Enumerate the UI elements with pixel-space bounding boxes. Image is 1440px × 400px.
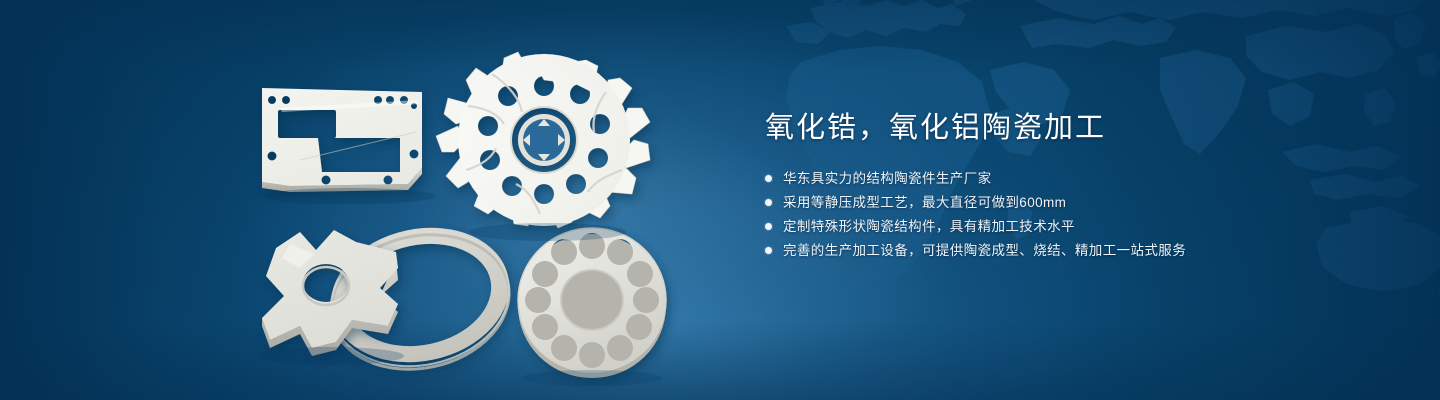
bullet-dot-icon xyxy=(765,223,772,230)
bullet-dot-icon xyxy=(765,199,772,206)
bullet-dot-icon xyxy=(765,247,772,254)
banner-copy: 氧化锆，氧化铝陶瓷加工 华东具实力的结构陶瓷件生产厂家 采用等静压成型工艺，最大… xyxy=(765,108,1385,266)
list-item: 华东具实力的结构陶瓷件生产厂家 xyxy=(765,170,1385,187)
list-item: 定制特殊形状陶瓷结构件，具有精加工技术水平 xyxy=(765,218,1385,235)
banner-feature-list: 华东具实力的结构陶瓷件生产厂家 采用等静压成型工艺，最大直径可做到600mm 定… xyxy=(765,170,1385,259)
ceramic-products-image xyxy=(0,0,740,400)
bullet-dot-icon xyxy=(765,175,772,182)
feature-text: 采用等静压成型工艺，最大直径可做到600mm xyxy=(783,194,1066,211)
feature-text: 定制特殊形状陶瓷结构件，具有精加工技术水平 xyxy=(783,218,1075,235)
feature-text: 完善的生产加工设备，可提供陶瓷成型、烧结、精加工一站式服务 xyxy=(783,242,1186,259)
hero-banner: 氧化锆，氧化铝陶瓷加工 华东具实力的结构陶瓷件生产厂家 采用等静压成型工艺，最大… xyxy=(0,0,1440,400)
list-item: 采用等静压成型工艺，最大直径可做到600mm xyxy=(765,194,1385,211)
list-item: 完善的生产加工设备，可提供陶瓷成型、烧结、精加工一站式服务 xyxy=(765,242,1385,259)
feature-text: 华东具实力的结构陶瓷件生产厂家 xyxy=(783,170,992,187)
banner-headline: 氧化锆，氧化铝陶瓷加工 xyxy=(765,108,1385,148)
